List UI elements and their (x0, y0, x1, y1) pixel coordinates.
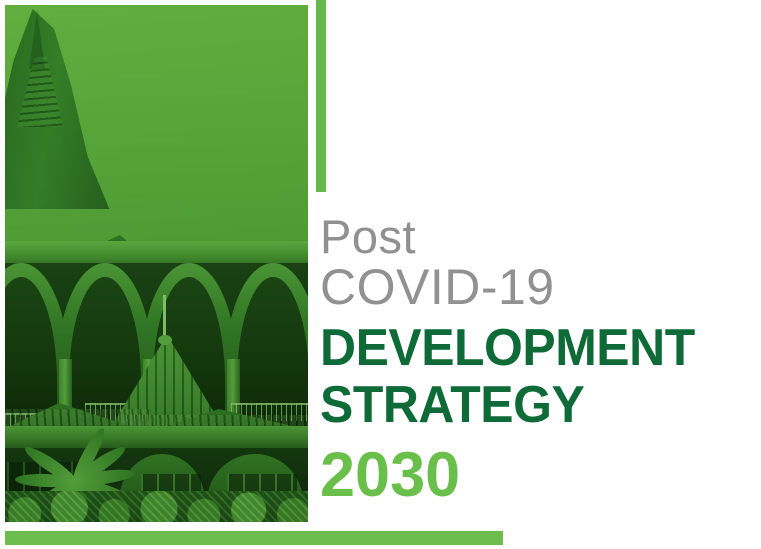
title-post: Post (320, 214, 740, 261)
title-year: 2030 (320, 444, 740, 507)
title-block: Post COVID-19 DEVELOPMENT STRATEGY 2030 (320, 214, 740, 507)
pavilion-finial-ball (158, 335, 172, 345)
title-strategy: STRATEGY (320, 377, 723, 434)
building-photo (5, 5, 308, 522)
title-development: DEVELOPMENT (320, 320, 723, 377)
vertical-accent-bar (316, 0, 326, 192)
bottom-accent-bar (5, 531, 503, 545)
poster-canvas: Post COVID-19 DEVELOPMENT STRATEGY 2030 (0, 0, 761, 549)
title-covid: COVID-19 (320, 261, 740, 314)
shrub-hedge-texture (5, 491, 308, 522)
